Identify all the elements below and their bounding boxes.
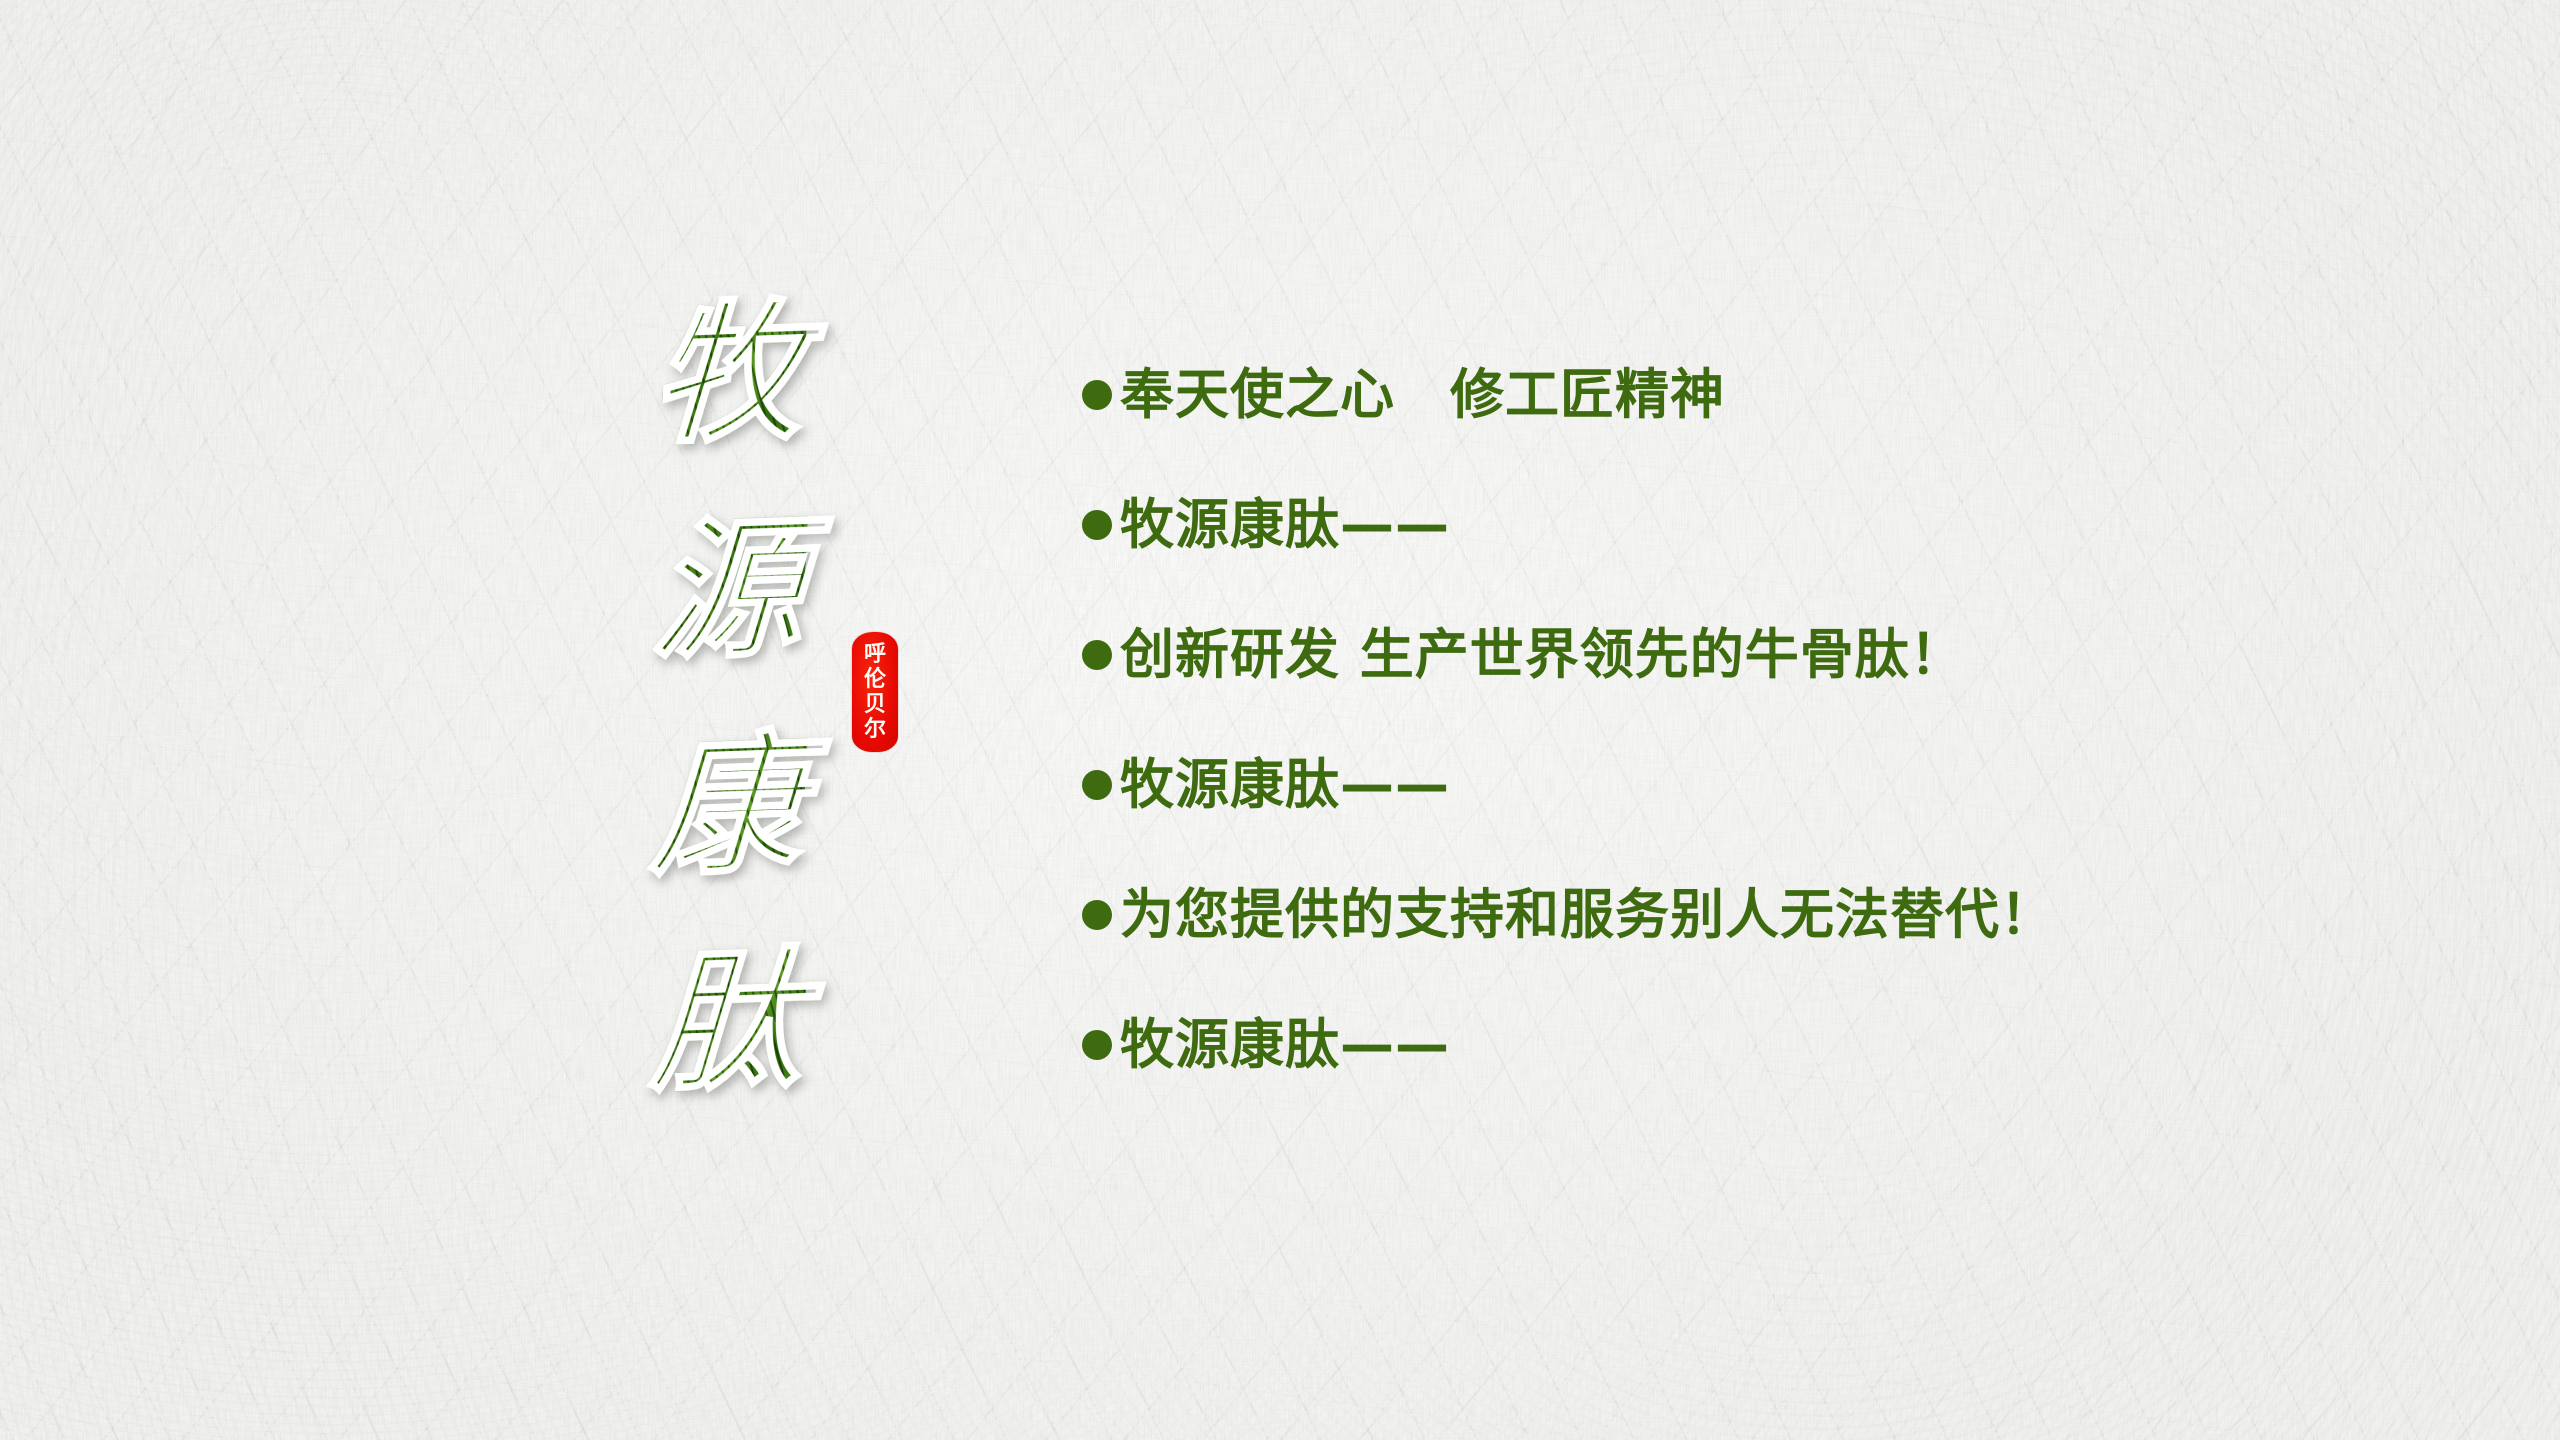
seal-char-1: 呼 [864,642,886,667]
bullet-text-5: 为您提供的支持和服务别人无法替代！ [1120,887,2055,944]
brand-char-4: 肽 [648,943,808,1100]
bullet-row-6: 牧源康肽—— [1082,980,2422,1110]
bullet-dot-icon [1082,510,1112,540]
seal-char-4: 尔 [864,717,886,742]
bullet-dot-icon [1082,640,1112,670]
seal-char-3: 贝 [864,692,886,717]
bullet-row-3: 创新研发 生产世界领先的牛骨肽！ [1082,590,2422,720]
brand-char-3: 康 [648,727,808,884]
bullet-dot-icon [1082,380,1112,410]
bullet-text-1: 奉天使之心 修工匠精神 [1120,367,1725,424]
brand-char-2: 源 [648,511,808,668]
bullet-text-4: 牧源康肽—— [1120,757,1450,814]
brand-char-1: 牧 [648,295,808,452]
bullet-text-6: 牧源康肽—— [1120,1017,1450,1074]
bullet-dot-icon [1082,1030,1112,1060]
bullet-row-2: 牧源康肽—— [1082,460,2422,590]
brand-title-vertical: 牧 源 康 肽 [628,298,828,1098]
bullet-dot-icon [1082,900,1112,930]
bullet-text-2: 牧源康肽—— [1120,497,1450,554]
bullet-row-1: 奉天使之心 修工匠精神 [1082,330,2422,460]
bullet-dot-icon [1082,770,1112,800]
slide-canvas: 牧 源 康 肽 呼 伦 贝 尔 奉天使之心 修工匠精神 牧源康肽—— 创新研发 … [0,0,2560,1440]
bullet-row-5: 为您提供的支持和服务别人无法替代！ [1082,850,2422,980]
red-seal-stamp: 呼 伦 贝 尔 [852,632,898,752]
bullet-row-4: 牧源康肽—— [1082,720,2422,850]
seal-char-2: 伦 [864,667,886,692]
bullet-text-3: 创新研发 生产世界领先的牛骨肽！ [1120,627,1965,684]
slogan-bullet-list: 奉天使之心 修工匠精神 牧源康肽—— 创新研发 生产世界领先的牛骨肽！ 牧源康肽… [1082,330,2422,1110]
